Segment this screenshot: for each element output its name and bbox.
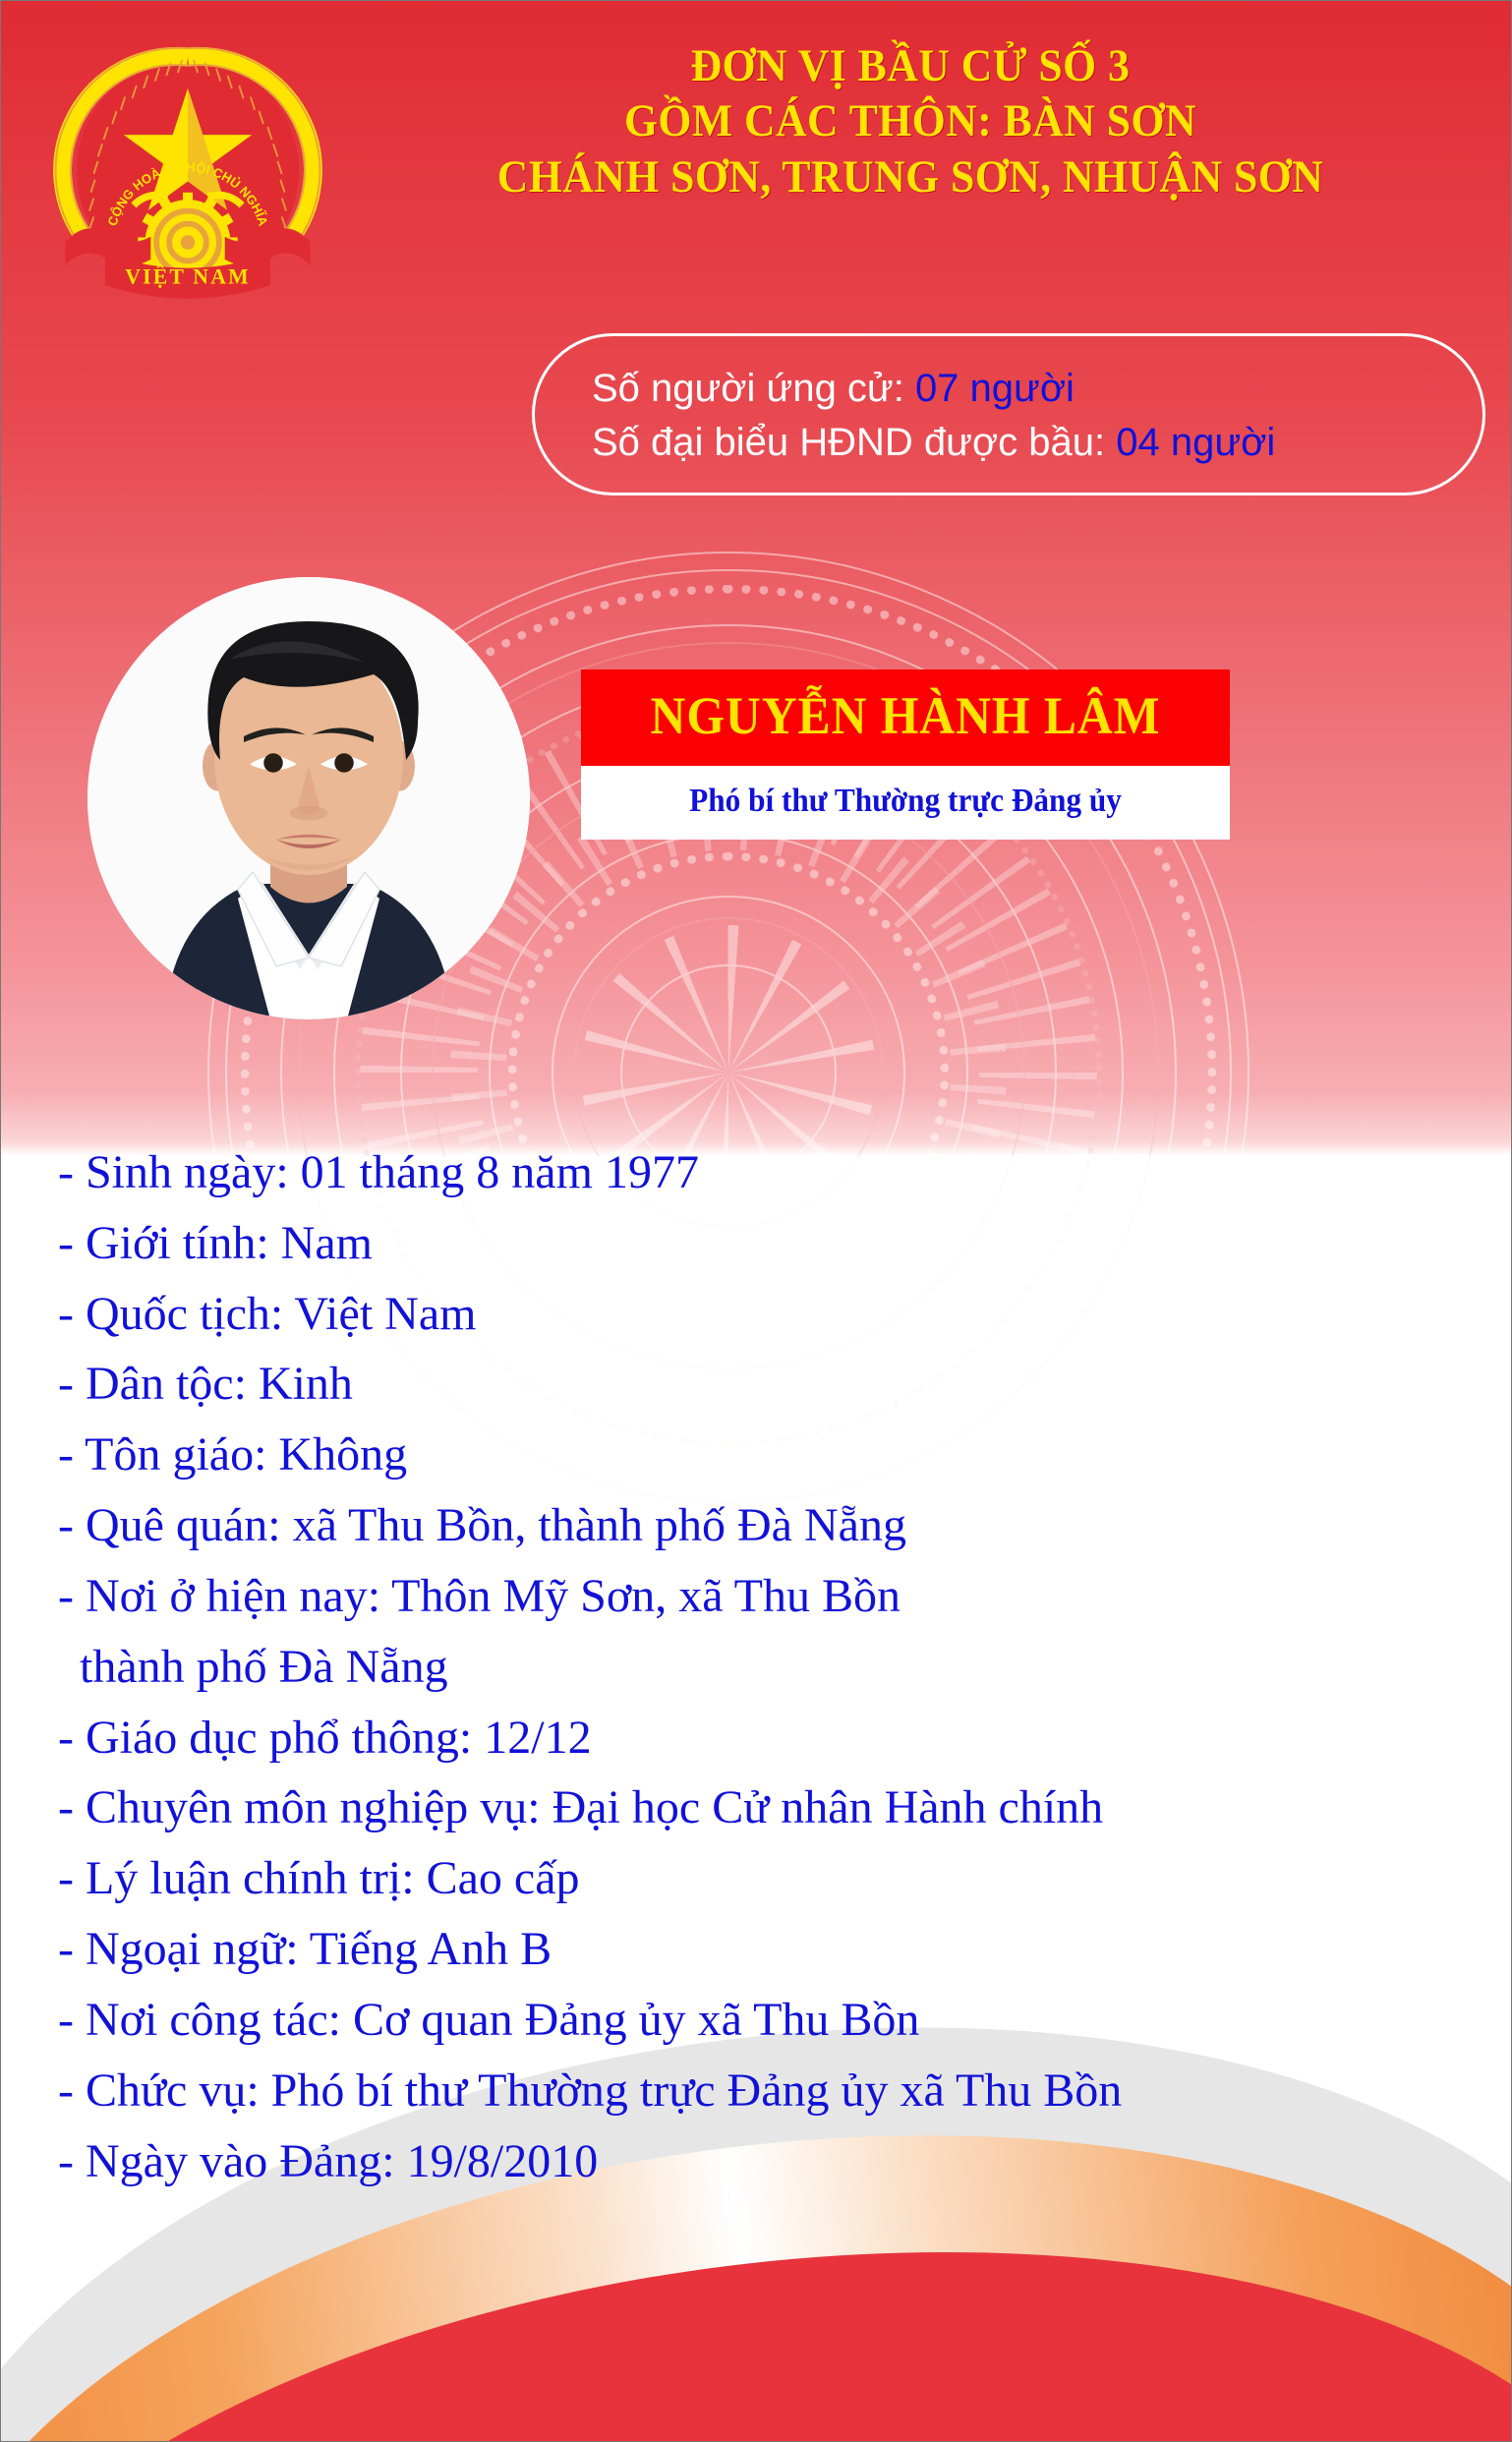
candidates-count-value: 07 người — [915, 367, 1075, 410]
candidate-name-card: NGUYỄN HÀNH LÂM Phó bí thư Thường trực Đ… — [581, 669, 1230, 840]
bio-line-party-date: - Ngày vào Đảng: 19/8/2010 — [58, 2130, 1483, 2193]
candidate-role-banner: Phó bí thư Thường trực Đảng ủy — [581, 766, 1230, 840]
candidates-count-row: Số người ứng cử: 07 người — [592, 362, 1483, 416]
header-line-2: GỒM CÁC THÔN: BÀN SƠN — [367, 93, 1455, 148]
bio-line-language: - Ngoại ngữ: Tiếng Anh B — [58, 1918, 1483, 1981]
election-counts-box: Số người ứng cử: 07 người Số đại biểu HĐ… — [532, 333, 1485, 495]
bio-line-education: - Giáo dục phổ thông: 12/12 — [58, 1707, 1483, 1770]
bio-line-hometown: - Quê quán: xã Thu Bồn, thành phố Đà Nẵn… — [58, 1494, 1483, 1557]
candidate-role-text: Phó bí thư Thường trực Đảng ủy — [689, 783, 1122, 820]
bio-line-nationality: - Quốc tịch: Việt Nam — [58, 1283, 1483, 1346]
bio-line-ethnicity: - Dân tộc: Kinh — [58, 1353, 1483, 1416]
bio-line-birthdate: - Sinh ngày: 01 tháng 8 năm 1977 — [58, 1141, 1483, 1204]
emblem-banner-bottom-text: VIỆT NAM — [125, 265, 251, 289]
bio-line-qualification: - Chuyên môn nghiệp vụ: Đại học Cử nhân … — [58, 1776, 1483, 1839]
elected-count-label: Số đại biểu HĐND được bầu: — [592, 421, 1105, 464]
vietnam-national-emblem-icon: CỘNG HOÀ XÃ HỘI CHỦ NGHĨA VIỆT NAM — [45, 29, 330, 314]
bio-line-position: - Chức vụ: Phó bí thư Thường trực Đảng ủ… — [58, 2060, 1483, 2122]
bio-line-religion: - Tôn giáo: Không — [58, 1424, 1483, 1486]
elected-count-value: 04 người — [1116, 421, 1275, 464]
candidates-count-label: Số người ứng cử: — [592, 367, 904, 410]
poster-header-title: ĐƠN VỊ BẦU CỬ SỐ 3 GỒM CÁC THÔN: BÀN SƠN… — [325, 38, 1495, 204]
bio-line-political-theory: - Lý luận chính trị: Cao cấp — [58, 1847, 1483, 1910]
elected-count-row: Số đại biểu HĐND được bầu: 04 người — [592, 416, 1483, 470]
header-line-3: CHÁNH SƠN, TRUNG SƠN, NHUẬN SƠN — [367, 149, 1455, 204]
candidate-name-banner: NGUYỄN HÀNH LÂM — [581, 669, 1230, 766]
candidate-portrait-photo — [87, 577, 530, 1019]
bio-line-workplace: - Nơi công tác: Cơ quan Đảng ủy xã Thu B… — [58, 1989, 1483, 2052]
election-candidate-poster: CỘNG HOÀ XÃ HỘI CHỦ NGHĨA VIỆT NAM ĐƠN V… — [0, 0, 1512, 2442]
bio-line-residence: - Nơi ở hiện nay: Thôn Mỹ Sơn, xã Thu Bồ… — [58, 1565, 1483, 1628]
bio-line-residence-cont: thành phố Đà Nẵng — [58, 1636, 1483, 1699]
header-line-1: ĐƠN VỊ BẦU CỬ SỐ 3 — [367, 38, 1455, 93]
candidate-name-text: NGUYỄN HÀNH LÂM — [651, 685, 1161, 746]
candidate-biography: - Sinh ngày: 01 tháng 8 năm 1977 - Giới … — [58, 1141, 1483, 2200]
bio-line-gender: - Giới tính: Nam — [58, 1212, 1483, 1275]
